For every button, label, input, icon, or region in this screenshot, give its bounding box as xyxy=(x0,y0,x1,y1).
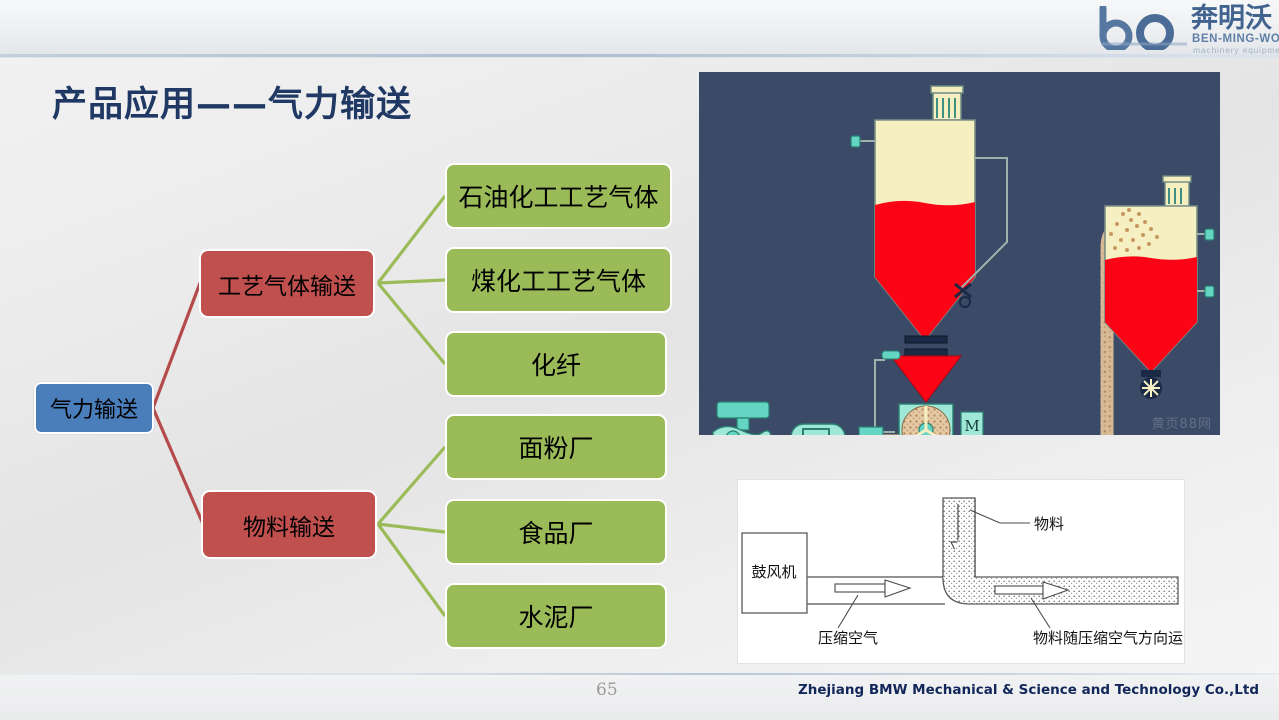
connector-branch-2-to-leaf-2 xyxy=(378,524,445,532)
label-material-flow: 物料随压缩空气方向运动 xyxy=(1033,629,1184,647)
connector-root-to-branch-1 xyxy=(153,283,200,408)
connector-branch-2-to-leaf-3 xyxy=(378,524,445,616)
connector-branch-1-to-leaf-1 xyxy=(378,196,445,283)
node-root-label: 气力输送 xyxy=(50,392,138,424)
blower-train: M xyxy=(699,402,919,435)
node-leaf-label: 面粉厂 xyxy=(518,429,593,465)
node-leaf-label: 水泥厂 xyxy=(518,598,593,634)
label-material: 物料 xyxy=(1034,515,1064,533)
image-watermark: 黄页88网 xyxy=(1151,413,1212,432)
source-silo xyxy=(851,86,975,340)
logo-tagline: machinery equipment xyxy=(1193,45,1279,55)
node-branch-label: 物料输送 xyxy=(243,508,335,542)
page-number: 65 xyxy=(596,680,618,700)
node-leaf-label: 煤化工工艺气体 xyxy=(471,262,646,298)
company-footer-name: Zhejiang BMW Mechanical & Science and Te… xyxy=(798,682,1259,698)
node-leaf-coal-chemical-gas[interactable]: 煤化工工艺气体 xyxy=(445,247,672,313)
receiving-silo xyxy=(1105,176,1214,399)
node-leaf-label: 石油化工工艺气体 xyxy=(458,178,658,214)
label-compressed-air: 压缩空气 xyxy=(818,629,878,647)
node-leaf-cement-plant[interactable]: 水泥厂 xyxy=(445,583,667,649)
node-root[interactable]: 气力输送 xyxy=(34,382,154,434)
node-leaf-petrochemical-gas[interactable]: 石油化工工艺气体 xyxy=(445,163,672,229)
bo-monogram-icon xyxy=(1099,6,1191,50)
rotary-valve: M xyxy=(899,404,983,435)
connector-branch-1-to-leaf-2 xyxy=(378,280,445,283)
node-leaf-flour-mill[interactable]: 面粉厂 xyxy=(445,414,667,480)
conveying-principle-svg: 鼓风机 物料 压缩空气 物料随压缩空气方向运动 xyxy=(738,480,1184,663)
product-application-tree-diagram: 气力输送 工艺气体输送 物料输送 石油化工工艺气体 煤化工工艺气体 化纤 面粉厂… xyxy=(0,0,700,700)
connector-root-to-branch-2 xyxy=(153,408,203,524)
pneumatic-system-schematic-svg: M M xyxy=(699,72,1220,435)
conveying-principle-image: 鼓风机 物料 压缩空气 物料随压缩空气方向运动 xyxy=(737,479,1185,664)
svg-text:M: M xyxy=(964,417,979,435)
node-branch-material[interactable]: 物料输送 xyxy=(201,490,377,559)
logo-chinese-name: 奔明沃 xyxy=(1191,4,1272,33)
svg-text:鼓风机: 鼓风机 xyxy=(751,563,796,581)
node-leaf-chemical-fiber[interactable]: 化纤 xyxy=(445,331,667,397)
node-leaf-label: 食品厂 xyxy=(518,514,593,550)
logo-english-name: BEN-MING-WO xyxy=(1192,33,1279,45)
pneumatic-conveying-system-image: M M xyxy=(699,72,1220,435)
node-leaf-food-factory[interactable]: 食品厂 xyxy=(445,499,667,565)
company-logo: 奔明沃 BEN-MING-WO machinery equipment xyxy=(1099,4,1269,54)
connector-branch-2-to-leaf-1 xyxy=(378,447,445,524)
compressed-air-arrow xyxy=(835,580,910,597)
node-branch-label: 工艺气体输送 xyxy=(218,267,356,301)
connector-branch-1-to-leaf-3 xyxy=(378,283,445,364)
node-leaf-label: 化纤 xyxy=(531,346,581,382)
svg-text:M: M xyxy=(808,432,824,435)
node-branch-process-gas[interactable]: 工艺气体输送 xyxy=(199,249,375,318)
